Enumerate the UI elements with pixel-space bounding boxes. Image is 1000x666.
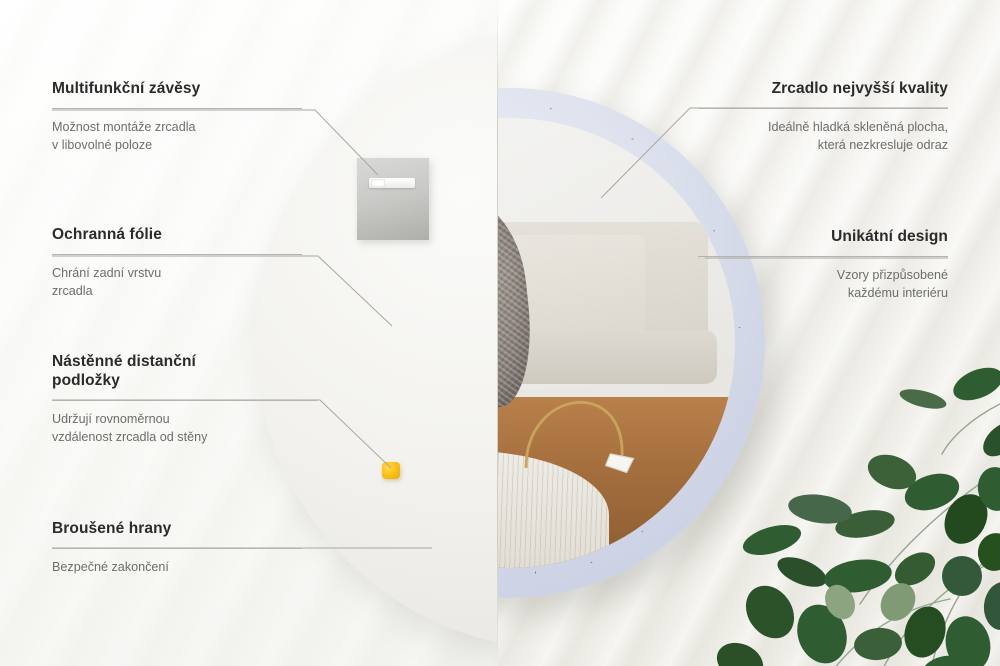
callout-body-line: Bezpečné zakončení [52, 560, 169, 574]
callout-body-line: Ideálně hladká skleněná plocha, [768, 120, 948, 134]
callout-body: Vzory přizpůsobené každému interiéru [698, 266, 948, 303]
callout-body-line: Chrání zadní vrstvu [52, 266, 161, 280]
callout-body-line: Možnost montáže zrcadla [52, 120, 196, 134]
callout-rule [52, 254, 302, 255]
callout-polished-edges: Broušené hrany Bezpečné zakončení [52, 520, 302, 576]
spacer-pad [382, 462, 400, 479]
callout-body-line: která nezkresluje odraz [818, 138, 948, 152]
callout-body: Možnost montáže zrcadla v libovolné polo… [52, 118, 302, 155]
callout-rule [52, 400, 317, 401]
callout-unique-design: Unikátní design Vzory přizpůsobené každé… [698, 228, 948, 303]
infographic-stage: Multifunkční závěsy Možnost montáže zrca… [0, 0, 1000, 666]
callout-body-line: Vzory přizpůsobené [837, 268, 948, 282]
callout-body-line: Udržují rovnoměrnou [52, 412, 170, 426]
callout-rule [52, 548, 302, 549]
callout-rule [698, 108, 948, 109]
callout-wall-spacers: Nástěnné distanční podložky Udržují rovn… [52, 353, 317, 447]
callout-rule [52, 108, 302, 109]
callout-body: Bezpečné zakončení [52, 558, 302, 576]
callout-body-line: v libovolné poloze [52, 138, 152, 152]
callout-title: Multifunkční závěsy [52, 80, 302, 99]
callout-top-quality-mirror: Zrcadlo nejvyšší kvality Ideálně hladká … [698, 80, 948, 155]
callout-body: Chrání zadní vrstvu zrcadla [52, 264, 302, 301]
callout-title: Ochranná fólie [52, 226, 302, 245]
callout-protective-foil: Ochranná fólie Chrání zadní vrstvu zrcad… [52, 226, 302, 301]
callout-title-line: Nástěnné distanční [52, 353, 196, 370]
callout-title: Zrcadlo nejvyšší kvality [698, 80, 948, 99]
callout-body: Udržují rovnoměrnou vzdálenost zrcadla o… [52, 410, 317, 447]
foliage-decoration [710, 344, 1000, 666]
callout-body-line: každému interiéru [848, 286, 948, 300]
callout-title-line: podložky [52, 372, 120, 389]
reflected-arc-floor-lamp [519, 343, 636, 478]
callout-title: Nástěnné distanční podložky [52, 353, 317, 391]
mirror-glass [498, 118, 735, 568]
callout-body-line: vzdálenost zrcadla od stěny [52, 430, 207, 444]
hanger-bracket-icon [369, 178, 415, 188]
callout-title: Unikátní design [698, 228, 948, 247]
hanger-plate [357, 158, 429, 240]
callout-title: Broušené hrany [52, 520, 302, 539]
callout-multifunctional-hangers: Multifunkční závěsy Možnost montáže zrca… [52, 80, 302, 155]
reflected-sofa-cushion [510, 235, 645, 343]
callout-rule [698, 256, 948, 257]
reflected-room-scene [498, 118, 735, 568]
callout-body-line: zrcadla [52, 284, 93, 298]
callout-body: Ideálně hladká skleněná plocha, která ne… [698, 118, 948, 155]
